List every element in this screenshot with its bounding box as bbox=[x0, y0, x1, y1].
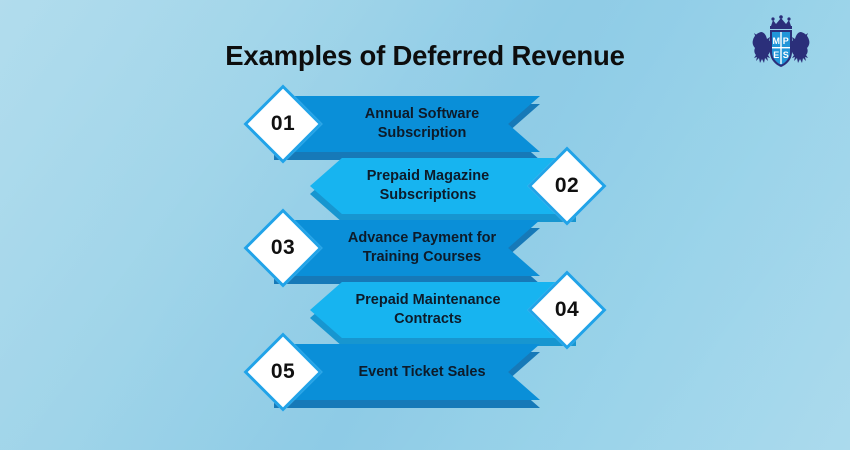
list-item-label: Advance Payment for Training Courses bbox=[340, 229, 504, 266]
examples-list: Annual Software Subscription 01 Prepaid … bbox=[0, 92, 850, 402]
number-label: 05 bbox=[258, 347, 308, 397]
list-item[interactable]: Prepaid Magazine Subscriptions 02 bbox=[0, 154, 850, 216]
list-item-label: Prepaid Magazine Subscriptions bbox=[359, 167, 497, 204]
list-item[interactable]: Annual Software Subscription 01 bbox=[0, 92, 850, 154]
number-label: 02 bbox=[542, 161, 592, 211]
svg-text:E: E bbox=[773, 50, 779, 60]
list-item[interactable]: Event Ticket Sales 05 bbox=[0, 340, 850, 402]
svg-text:P: P bbox=[783, 36, 789, 46]
svg-text:M: M bbox=[772, 36, 780, 46]
mpes-crest-logo: M P E S bbox=[748, 12, 814, 74]
list-item[interactable]: Prepaid Maintenance Contracts 04 bbox=[0, 278, 850, 340]
svg-text:S: S bbox=[783, 50, 789, 60]
list-item-label: Event Ticket Sales bbox=[350, 363, 493, 382]
list-item-label: Prepaid Maintenance Contracts bbox=[347, 291, 508, 328]
infographic-canvas: M P E S Examples of Deferred Revenue Ann… bbox=[0, 0, 850, 450]
list-item[interactable]: Advance Payment for Training Courses 03 bbox=[0, 216, 850, 278]
page-title: Examples of Deferred Revenue bbox=[0, 40, 850, 72]
number-label: 03 bbox=[258, 223, 308, 273]
list-item-label: Annual Software Subscription bbox=[357, 105, 487, 142]
number-label: 01 bbox=[258, 99, 308, 149]
number-label: 04 bbox=[542, 285, 592, 335]
